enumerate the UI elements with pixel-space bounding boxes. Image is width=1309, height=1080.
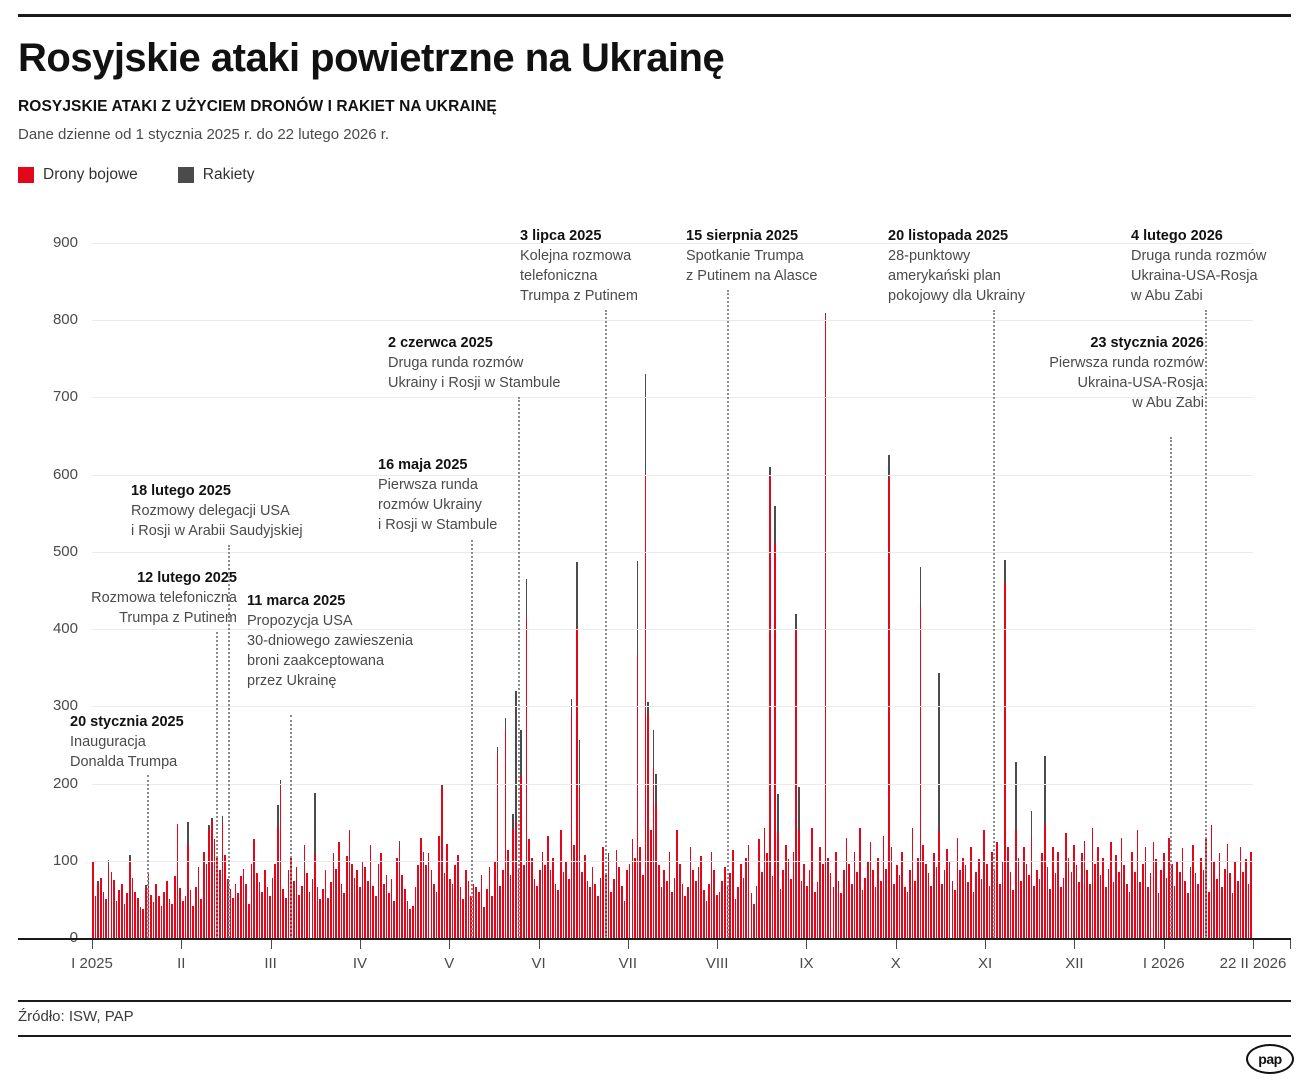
bar-segment-drones <box>970 847 972 938</box>
bar-segment-rockets <box>1031 811 1033 838</box>
bar-segment-drones <box>846 838 848 938</box>
bar-segment-drones <box>1179 872 1181 938</box>
bar-segment-drones <box>1026 864 1028 938</box>
legend-item-1: Rakiety <box>178 166 255 184</box>
bar-segment-drones <box>259 882 261 938</box>
bar-segment-drones <box>1015 830 1017 938</box>
bar-segment-rockets <box>1044 756 1046 826</box>
bar-segment-drones <box>986 864 988 938</box>
bar-segment-drones <box>526 618 528 938</box>
bar-segment-drones <box>338 842 340 938</box>
bar-segment-drones <box>1121 838 1123 938</box>
bar-segment-rockets <box>512 814 514 829</box>
bar-segment-drones <box>282 889 284 938</box>
y-axis-tick-label: 100 <box>18 852 78 869</box>
bar-segment-drones <box>938 831 940 938</box>
bar-segment-drones <box>1187 893 1189 938</box>
bar-segment-drones <box>155 884 157 938</box>
bar-segment-drones <box>780 889 782 938</box>
bar-segment-drones <box>1192 845 1194 938</box>
x-axis-tick <box>181 940 182 949</box>
annotation-date: 3 lipca 2025 <box>520 226 638 246</box>
y-gridline <box>92 475 1253 476</box>
bar-segment-rockets <box>520 730 522 776</box>
bar-segment-drones <box>150 895 152 938</box>
bar-segment-drones <box>298 895 300 938</box>
bar-segment-drones <box>716 895 718 938</box>
bar-segment-drones <box>999 884 1001 938</box>
x-axis-tick <box>806 940 807 949</box>
bar-segment-drones <box>393 901 395 938</box>
bar-segment-drones <box>1211 825 1213 938</box>
bar-segment-drones <box>111 872 113 938</box>
bar-segment-drones <box>520 776 522 938</box>
x-axis-line <box>18 938 1291 940</box>
bar-segment-drones <box>407 901 409 938</box>
bar-segment-drones <box>404 889 406 938</box>
bar-segment-drones <box>116 901 118 938</box>
bar-segment-drones <box>378 864 380 938</box>
bar-segment-drones <box>108 865 110 938</box>
bar-segment-drones <box>494 862 496 938</box>
annotation-leader-line <box>1205 310 1207 938</box>
bar-segment-drones <box>645 475 647 938</box>
annotation-text-line: Trumpa z Putinem <box>520 286 638 306</box>
bar-segment-drones <box>356 870 358 938</box>
x-axis-tick-label: XI <box>978 955 992 972</box>
bar-segment-drones <box>1044 825 1046 938</box>
bar-segment-drones <box>888 478 890 938</box>
bar-segment-drones <box>100 878 102 938</box>
bar-segment-drones <box>243 869 245 939</box>
bar-segment-drones <box>1216 879 1218 938</box>
bar-segment-drones <box>912 828 914 938</box>
bar-segment-rockets <box>92 861 94 863</box>
bar-segment-drones <box>1184 881 1186 938</box>
bar-segment-drones <box>978 859 980 938</box>
annotation-a2: 12 lutego 2025Rozmowa telefonicznaTrumpa… <box>91 568 237 628</box>
bar-segment-drones <box>235 884 237 938</box>
x-axis-tick-label: V <box>444 955 454 972</box>
bar-segment-drones <box>914 881 916 938</box>
bar-segment-drones <box>637 654 639 938</box>
bar-segment-drones <box>1020 881 1022 938</box>
bar-segment-rockets <box>211 818 213 821</box>
annotation-date: 4 lutego 2026 <box>1131 226 1266 246</box>
bar-segment-drones <box>830 873 832 938</box>
bar-segment-drones <box>925 864 927 938</box>
x-axis-tick-label: I 2026 <box>1143 955 1185 972</box>
annotation-text-line: Rozmowy delegacji USA <box>131 501 303 521</box>
bar-segment-drones <box>166 881 168 938</box>
bar-segment-drones <box>415 887 417 938</box>
bar-segment-drones <box>401 875 403 938</box>
bar-segment-rockets <box>222 816 224 822</box>
bar-segment-drones <box>565 862 567 938</box>
bar-segment-drones <box>441 787 443 938</box>
bar-segment-rockets <box>1004 560 1006 583</box>
bar-segment-drones <box>703 890 705 938</box>
bar-segment-drones <box>642 875 644 938</box>
pap-logo-icon: pap <box>1246 1044 1294 1074</box>
bar-segment-drones <box>481 875 483 938</box>
bar-segment-drones <box>1163 853 1165 938</box>
bar-segment-drones <box>690 847 692 938</box>
bar-segment-drones <box>174 876 176 938</box>
bar-segment-drones <box>462 899 464 938</box>
bar-segment-rockets <box>653 730 655 769</box>
annotation-text-line: z Putinem na Alasce <box>686 266 817 286</box>
y-axis-tick-label: 500 <box>18 543 78 560</box>
bar-segment-drones <box>893 884 895 938</box>
y-gridline <box>92 320 1253 321</box>
bar-segment-rockets <box>576 562 578 628</box>
annotation-leader-line <box>727 290 729 938</box>
bar-segment-drones <box>708 884 710 938</box>
y-axis-tick-label: 800 <box>18 311 78 328</box>
y-gridline <box>92 784 1253 785</box>
bar-segment-drones <box>515 822 517 938</box>
bar-segment-drones <box>383 884 385 938</box>
bar-segment-drones <box>555 884 557 938</box>
bar-segment-drones <box>433 884 435 938</box>
bar-segment-drones <box>153 902 155 938</box>
bar-segment-drones <box>803 864 805 938</box>
bar-segment-drones <box>372 886 374 939</box>
bar-segment-drones <box>1063 878 1065 938</box>
bar-segment-drones <box>534 879 536 938</box>
bar-segment-drones <box>497 754 499 938</box>
bar-segment-drones <box>380 853 382 938</box>
bar-segment-drones <box>751 893 753 938</box>
annotation-text-line: Ukrainy i Rosji w Stambule <box>388 373 560 393</box>
bar-segment-drones <box>396 858 398 938</box>
bar-segment-rockets <box>526 579 528 618</box>
bar-segment-rockets <box>798 787 800 830</box>
bar-segment-rockets <box>579 740 581 786</box>
bar-segment-drones <box>952 881 954 938</box>
x-axis-tick <box>271 940 272 949</box>
bar-segment-drones <box>446 844 448 938</box>
annotation-text-line: Druga runda rozmów <box>388 353 560 373</box>
bar-segment-drones <box>1089 884 1091 938</box>
infographic-page: Rosyjskie ataki powietrzne na Ukrainę RO… <box>0 0 1309 1080</box>
bar-segment-drones <box>1071 872 1073 938</box>
bar-segment-drones <box>795 629 797 938</box>
bar-segment-drones <box>1105 887 1107 938</box>
bar-segment-drones <box>317 887 319 938</box>
bar-segment-drones <box>224 855 226 938</box>
bar-segment-drones <box>616 850 618 938</box>
bar-segment-drones <box>444 873 446 938</box>
y-axis-tick-label: 200 <box>18 775 78 792</box>
bar-segment-drones <box>105 899 107 938</box>
bar-segment-drones <box>798 830 800 938</box>
annotation-a9: 20 listopada 202528-punktowyamerykański … <box>888 226 1025 306</box>
bar-segment-drones <box>182 901 184 938</box>
bar-segment-drones <box>293 881 295 938</box>
bar-segment-drones <box>362 861 364 938</box>
bar-segment-drones <box>560 830 562 938</box>
bar-segment-drones <box>1197 884 1199 938</box>
bar-segment-drones <box>417 865 419 938</box>
bar-segment-drones <box>756 886 758 939</box>
bar-segment-drones <box>944 870 946 938</box>
bar-segment-drones <box>996 842 998 938</box>
bar-segment-drones <box>1115 855 1117 938</box>
bar-segment-drones <box>658 865 660 938</box>
bar-segment-drones <box>1131 852 1133 938</box>
bar-segment-drones <box>335 869 337 939</box>
x-axis-tick-label: 22 II 2026 <box>1220 955 1287 972</box>
x-axis-tick-label: IV <box>353 955 367 972</box>
annotation-text-line: 28-punktowy <box>888 246 1025 266</box>
bar-segment-drones <box>391 879 393 938</box>
bar-segment-drones <box>851 884 853 938</box>
bar-segment-drones <box>349 830 351 938</box>
bar-segment-drones <box>825 317 827 938</box>
top-rule <box>18 14 1291 17</box>
bar-segment-drones <box>1232 893 1234 938</box>
bar-segment-drones <box>624 901 626 938</box>
bar-segment-drones <box>629 864 631 938</box>
bar-segment-drones <box>674 878 676 938</box>
annotation-leader-line <box>518 397 520 938</box>
bar-segment-drones <box>1065 833 1067 938</box>
bar-segment-drones <box>200 899 202 938</box>
bar-segment-drones <box>729 873 731 938</box>
bar-segment-drones <box>766 853 768 938</box>
bar-segment-drones <box>1208 892 1210 938</box>
bar-segment-drones <box>1081 853 1083 938</box>
bar-segment-drones <box>954 890 956 938</box>
bar-segment-drones <box>909 870 911 938</box>
bar-segment-drones <box>1084 841 1086 938</box>
bar-segment-rockets <box>280 780 282 788</box>
bar-segment-drones <box>1153 842 1155 938</box>
bar-segment-drones <box>1142 864 1144 938</box>
bar-segment-drones <box>327 898 329 938</box>
bar-segment-drones <box>409 909 411 938</box>
bar-segment-drones <box>959 870 961 938</box>
bar-segment-drones <box>946 849 948 938</box>
bar-segment-drones <box>523 865 525 938</box>
source-note: Źródło: ISW, PAP <box>18 1008 134 1025</box>
bar-segment-drones <box>309 892 311 938</box>
bar-segment-drones <box>211 821 213 938</box>
bar-segment-drones <box>169 899 171 938</box>
bar-segment-drones <box>769 475 771 938</box>
annotation-text-line: Trumpa z Putinem <box>91 608 237 628</box>
bar-segment-drones <box>1174 886 1176 939</box>
bar-segment-drones <box>185 896 187 938</box>
bar-segment-drones <box>1248 884 1250 938</box>
footer-rule-2 <box>18 1035 1291 1037</box>
bar-segment-drones <box>634 858 636 938</box>
bar-segment-drones <box>261 892 263 938</box>
bar-segment-rockets <box>314 793 316 855</box>
bar-segment-drones <box>809 870 811 938</box>
bar-segment-drones <box>1134 872 1136 938</box>
bar-segment-drones <box>676 830 678 938</box>
y-gridline <box>92 552 1253 553</box>
bar-segment-drones <box>208 830 210 938</box>
bar-segment-drones <box>264 870 266 938</box>
bar-segment-drones <box>1086 870 1088 938</box>
annotation-leader-line <box>290 715 292 938</box>
annotation-text-line: w Abu Zabi <box>1131 286 1266 306</box>
bar-segment-drones <box>1018 858 1020 938</box>
bar-segment-drones <box>251 864 253 938</box>
bar-segment-drones <box>507 850 509 938</box>
bar-segment-rockets <box>608 853 610 858</box>
bar-segment-drones <box>753 904 755 938</box>
bar-segment-drones <box>388 893 390 938</box>
bar-segment-drones <box>904 887 906 938</box>
x-axis-tick <box>896 940 897 949</box>
bar-segment-rockets <box>571 699 573 714</box>
bar-segment-drones <box>187 845 189 938</box>
annotation-date: 2 czerwca 2025 <box>388 333 560 353</box>
bar-segment-drones <box>721 881 723 938</box>
bar-segment-drones <box>1176 861 1178 938</box>
annotation-date: 23 stycznia 2026 <box>1049 333 1204 353</box>
bar-segment-drones <box>528 839 530 938</box>
bar-segment-drones <box>1052 847 1054 938</box>
bar-segment-drones <box>862 890 864 938</box>
bar-segment-drones <box>121 884 123 938</box>
bar-segment-drones <box>597 896 599 938</box>
footer-rule <box>18 1000 1291 1002</box>
bar-segment-drones <box>325 870 327 938</box>
bar-segment-drones <box>666 881 668 938</box>
bar-segment-drones <box>1166 878 1168 938</box>
bar-segment-drones <box>333 853 335 938</box>
bar-segment-drones <box>269 896 271 938</box>
bar-segment-drones <box>1023 847 1025 938</box>
bar-segment-drones <box>454 865 456 938</box>
bar-segment-drones <box>761 872 763 938</box>
bar-segment-drones <box>655 805 657 938</box>
bar-segment-drones <box>425 865 427 938</box>
annotation-leader-line <box>1170 437 1172 938</box>
annotation-date: 20 listopada 2025 <box>888 226 1025 246</box>
annotation-a1: 20 stycznia 2025InauguracjaDonalda Trump… <box>70 712 184 772</box>
bar-segment-drones <box>647 714 649 938</box>
bar-segment-drones <box>1055 873 1057 938</box>
bar-segment-drones <box>1245 859 1247 938</box>
bar-segment-drones <box>772 876 774 938</box>
bar-segment-drones <box>1213 862 1215 938</box>
bar-segment-drones <box>579 787 581 938</box>
x-axis-tick-label: X <box>891 955 901 972</box>
bar-segment-drones <box>806 886 808 939</box>
bar-segment-drones <box>748 845 750 938</box>
bar-segment-rockets <box>108 860 110 865</box>
y-axis-tick-label: 300 <box>18 697 78 714</box>
bar-segment-drones <box>296 867 298 938</box>
x-axis-tick-label: II <box>177 955 185 972</box>
bar-segment-drones <box>568 879 570 938</box>
bar-segment-drones <box>1108 869 1110 939</box>
bar-segment-drones <box>1113 882 1115 938</box>
bar-segment-drones <box>682 884 684 938</box>
bar-segment-drones <box>505 730 507 939</box>
bar-segment-drones <box>491 896 493 938</box>
legend-item-label: Drony bojowe <box>43 166 138 184</box>
bar-segment-drones <box>428 853 430 938</box>
bar-segment-drones <box>97 884 99 938</box>
bar-segment-rockets <box>769 467 771 475</box>
bar-segment-rockets <box>888 455 890 478</box>
annotation-a7: 3 lipca 2025Kolejna rozmowatelefonicznaT… <box>520 226 638 306</box>
bar-segment-drones <box>198 867 200 938</box>
bar-segment-drones <box>237 893 239 938</box>
bar-segment-drones <box>319 899 321 938</box>
bar-segment-drones <box>330 882 332 938</box>
annotation-text-line: Donalda Trumpa <box>70 752 184 772</box>
bar-segment-drones <box>438 836 440 938</box>
bar-segment-drones <box>1123 865 1125 938</box>
bar-segment-rockets <box>774 506 776 543</box>
square-swatch-red <box>18 167 34 183</box>
bar-segment-drones <box>872 870 874 938</box>
annotation-a4: 11 marca 2025Propozycja USA30-dniowego z… <box>247 591 413 691</box>
bar-segment-rockets <box>97 881 99 884</box>
bar-segment-drones <box>192 906 194 938</box>
bar-segment-drones <box>219 870 221 938</box>
bar-segment-drones <box>1092 828 1094 938</box>
bar-segment-drones <box>423 852 425 938</box>
bar-segment-drones <box>949 861 951 938</box>
bar-segment-drones <box>140 907 142 938</box>
bar-segment-drones <box>483 907 485 938</box>
bar-segment-drones <box>737 887 739 938</box>
bar-segment-drones <box>132 878 134 938</box>
bar-segment-drones <box>840 893 842 938</box>
bar-segment-drones <box>817 882 819 938</box>
annotation-text-line: i Rosji w Arabii Saudyjskiej <box>131 521 303 541</box>
annotation-date: 12 lutego 2025 <box>91 568 237 588</box>
annotation-date: 15 sierpnia 2025 <box>686 226 817 246</box>
bar-segment-drones <box>1076 865 1078 938</box>
bar-segment-drones <box>103 892 105 938</box>
bar-segment-drones <box>245 884 247 938</box>
annotation-a6: 2 czerwca 2025Druga runda rozmówUkrainy … <box>388 333 560 393</box>
bar-segment-drones <box>142 909 144 938</box>
bar-segment-drones <box>274 864 276 938</box>
bar-segment-drones <box>602 847 604 938</box>
bar-segment-drones <box>1002 861 1004 938</box>
bar-segment-drones <box>1182 848 1184 938</box>
x-axis-tick <box>1074 940 1075 949</box>
annotation-text-line: rozmów Ukrainy <box>378 495 497 515</box>
bar-segment-drones <box>626 870 628 938</box>
annotation-text-line: Druga runda rozmów <box>1131 246 1266 266</box>
bar-segment-drones <box>465 870 467 938</box>
bar-segment-drones <box>1242 872 1244 938</box>
bar-segment-drones <box>983 830 985 938</box>
bar-segment-drones <box>1094 864 1096 938</box>
x-axis-tick <box>539 940 540 949</box>
chart-daterange: Dane dzienne od 1 stycznia 2025 r. do 22… <box>18 126 389 143</box>
bar-segment-drones <box>782 870 784 938</box>
bar-segment-drones <box>489 867 491 938</box>
bar-segment-drones <box>965 865 967 938</box>
x-axis-tick <box>717 940 718 949</box>
bar-segment-drones <box>936 867 938 938</box>
bar-segment-drones <box>1047 867 1049 938</box>
